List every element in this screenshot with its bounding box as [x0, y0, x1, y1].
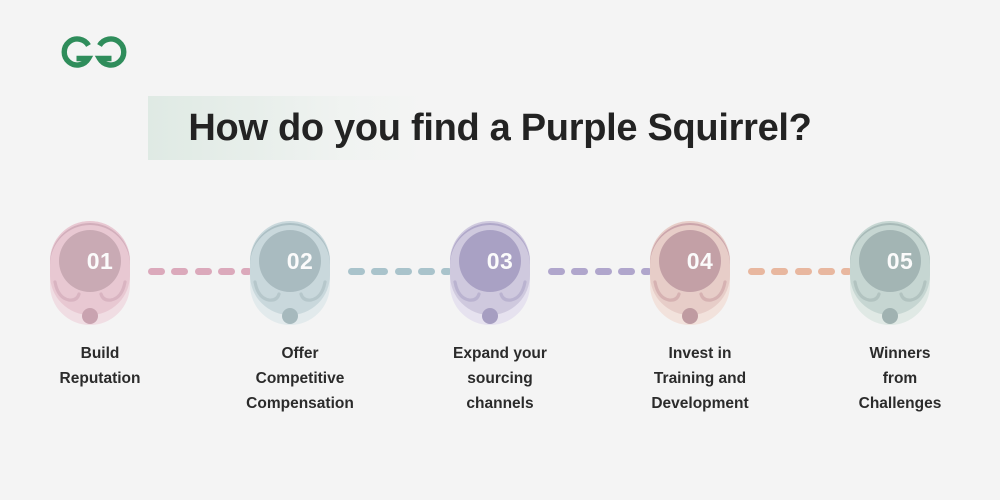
step-item-02[interactable]: 02 Offer Competitive Compensation	[200, 212, 400, 416]
step-badge-05[interactable]: 05	[840, 212, 960, 332]
step-item-04[interactable]: 04 Invest in Training and Development	[600, 212, 800, 416]
geeksforgeeks-logo	[58, 27, 130, 73]
process-steps-row: 01 Build Reputation 02 Offer Competitive…	[0, 212, 1000, 452]
step-caption: Expand your sourcing channels	[410, 342, 590, 416]
step-badge-03[interactable]: 03	[440, 212, 560, 332]
step-badge-01[interactable]: 01	[40, 212, 160, 332]
page-title-block: How do you find a Purple Squirrel?	[0, 96, 1000, 164]
step-badge-graphic	[440, 212, 560, 332]
step-badge-graphic	[640, 212, 760, 332]
step-caption: Winners from Challenges	[810, 342, 990, 416]
step-item-03[interactable]: 03 Expand your sourcing channels	[400, 212, 600, 416]
step-item-01[interactable]: 01 Build Reputation	[0, 212, 200, 392]
step-badge-graphic	[840, 212, 960, 332]
page-title: How do you find a Purple Squirrel?	[0, 96, 1000, 160]
step-badge-04[interactable]: 04	[640, 212, 760, 332]
step-badge-graphic	[40, 212, 160, 332]
step-badge-graphic	[240, 212, 360, 332]
step-badge-02[interactable]: 02	[240, 212, 360, 332]
step-caption: Offer Competitive Compensation	[210, 342, 390, 416]
step-caption: Invest in Training and Development	[610, 342, 790, 416]
step-item-05[interactable]: 05 Winners from Challenges	[800, 212, 1000, 416]
step-caption: Build Reputation	[10, 342, 190, 392]
